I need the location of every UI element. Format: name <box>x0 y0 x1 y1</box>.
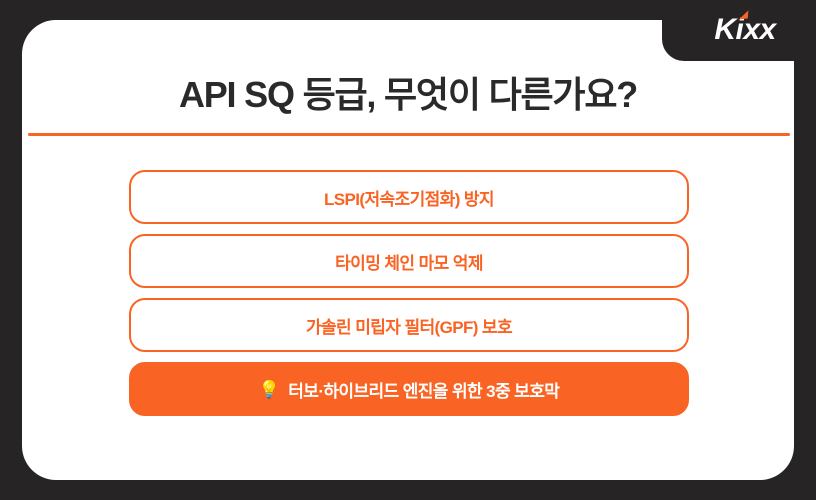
feature-item-1[interactable]: LSPI(저속조기점화) 방지 <box>129 170 689 224</box>
kixx-logo: Kixx <box>714 15 775 45</box>
feature-item-4-label: 터보·하이브리드 엔진을 위한 3중 보호막 <box>288 377 559 402</box>
feature-item-4-highlight[interactable]: 💡 터보·하이브리드 엔진을 위한 3중 보호막 <box>129 362 689 416</box>
slide-canvas: API SQ 등급, 무엇이 다른가요? LSPI(저속조기점화) 방지 타이밍… <box>0 0 816 500</box>
feature-item-2[interactable]: 타이밍 체인 마모 억제 <box>129 234 689 288</box>
content-card: API SQ 등급, 무엇이 다른가요? LSPI(저속조기점화) 방지 타이밍… <box>22 20 794 480</box>
feature-item-3[interactable]: 가솔린 미립자 필터(GPF) 보호 <box>129 298 689 352</box>
feature-item-3-label: 가솔린 미립자 필터(GPF) 보호 <box>306 313 512 338</box>
feature-item-2-label: 타이밍 체인 마모 억제 <box>335 249 483 274</box>
feature-item-1-label: LSPI(저속조기점화) 방지 <box>324 185 494 210</box>
brand-notch: Kixx <box>662 0 816 61</box>
feature-list: LSPI(저속조기점화) 방지 타이밍 체인 마모 억제 가솔린 미립자 필터(… <box>129 170 689 416</box>
swoosh-accent-icon <box>739 10 749 19</box>
lightbulb-icon: 💡 <box>259 381 280 398</box>
title-divider <box>28 133 790 136</box>
page-title: API SQ 등급, 무엇이 다른가요? <box>22 74 794 115</box>
